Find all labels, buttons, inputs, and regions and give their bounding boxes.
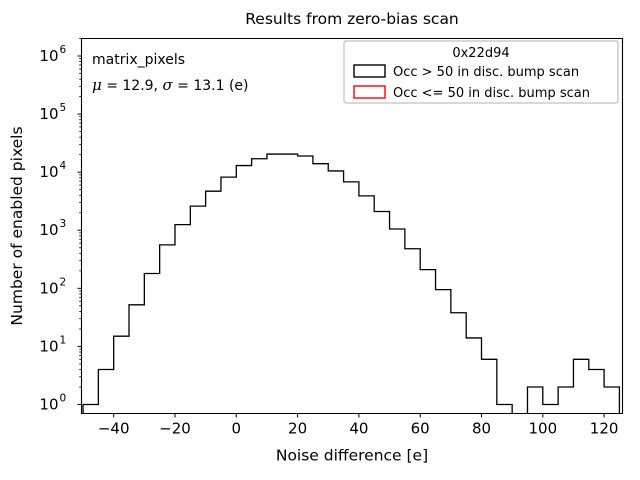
ytick-label: 100 bbox=[39, 393, 66, 414]
xtick-label: 120 bbox=[590, 420, 619, 438]
xtick-label: 20 bbox=[288, 420, 307, 438]
ytick-label-exponent: 5 bbox=[60, 102, 67, 114]
ytick-label-base: 10 bbox=[39, 337, 58, 355]
x-axis-label: Noise difference [e] bbox=[276, 447, 428, 465]
ytick-label: 106 bbox=[39, 44, 66, 65]
ytick-label-base: 10 bbox=[39, 279, 58, 297]
ytick-label: 105 bbox=[39, 102, 66, 123]
ytick-label-exponent: 0 bbox=[60, 393, 67, 405]
ytick-label-exponent: 6 bbox=[60, 44, 67, 56]
ytick-label-exponent: 4 bbox=[60, 160, 67, 172]
ytick-label-exponent: 3 bbox=[60, 218, 67, 230]
ytick-label: 102 bbox=[39, 276, 66, 297]
xtick-label: 60 bbox=[411, 420, 430, 438]
histogram-plot: Results from zero-bias scan−40−200204060… bbox=[0, 0, 640, 480]
xtick-label: −40 bbox=[98, 420, 130, 438]
ytick-label-exponent: 2 bbox=[60, 276, 67, 288]
y-axis-label: Number of enabled pixels bbox=[8, 126, 26, 325]
dataset-label: matrix_pixels bbox=[92, 52, 185, 68]
ytick-label-base: 10 bbox=[39, 396, 58, 414]
legend-label-0: Occ > 50 in disc. bump scan bbox=[393, 65, 579, 80]
legend-title: 0x22d94 bbox=[452, 46, 509, 61]
ytick-label: 104 bbox=[39, 160, 66, 181]
chart-title: Results from zero-bias scan bbox=[245, 10, 459, 28]
xtick-label: 100 bbox=[528, 420, 557, 438]
legend-label-1: Occ <= 50 in disc. bump scan bbox=[393, 86, 590, 101]
xtick-label: 40 bbox=[349, 420, 368, 438]
ytick-label-base: 10 bbox=[39, 221, 58, 239]
figure-canvas: Results from zero-bias scan−40−200204060… bbox=[0, 0, 640, 480]
legend: 0x22d94Occ > 50 in disc. bump scanOcc <=… bbox=[344, 41, 618, 103]
ytick-label: 101 bbox=[39, 334, 66, 355]
stats-annotation: μ = 12.9, σ = 13.1 (e) bbox=[92, 76, 249, 94]
xtick-label: 80 bbox=[472, 420, 491, 438]
ytick-label-exponent: 1 bbox=[60, 334, 67, 346]
ytick-label-base: 10 bbox=[39, 105, 58, 123]
ytick-label: 103 bbox=[39, 218, 66, 239]
ytick-label-base: 10 bbox=[39, 163, 58, 181]
xtick-label: −20 bbox=[159, 420, 191, 438]
xtick-label: 0 bbox=[232, 420, 242, 438]
histogram-series-occ-gt-50 bbox=[83, 154, 619, 413]
ytick-label-base: 10 bbox=[39, 47, 58, 65]
